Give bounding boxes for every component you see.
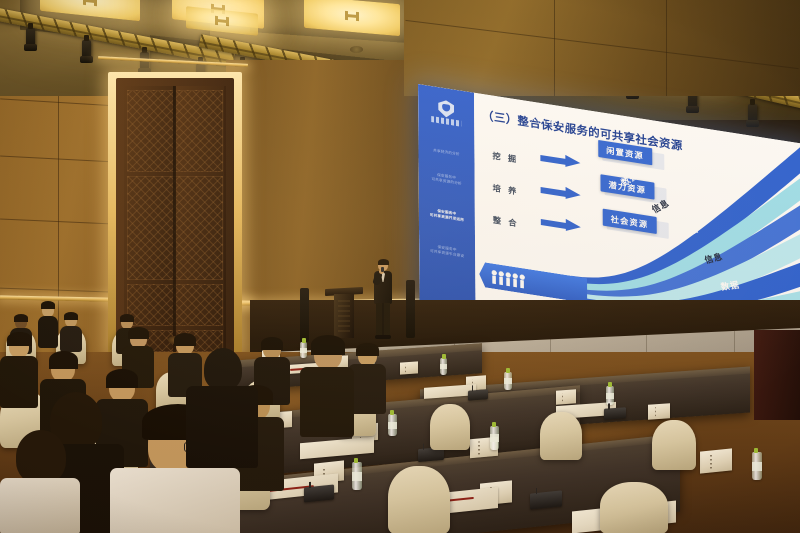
slide-nav-item-2[interactable]: 保安服务中 可共享资源开发运用 xyxy=(424,207,470,225)
audience-chair xyxy=(388,466,450,533)
audience-chair xyxy=(430,404,470,450)
right-wall-panelling xyxy=(404,0,800,96)
name-card xyxy=(648,403,670,420)
water-bottle xyxy=(490,426,499,450)
slide-stream-label-4: 数据 xyxy=(719,279,741,293)
side-curtain xyxy=(754,330,800,420)
slide-row-verb-0: 挖 掘 xyxy=(492,150,518,166)
name-card xyxy=(400,361,418,374)
audience-member-foreground xyxy=(300,340,354,436)
audience-chair xyxy=(540,412,582,460)
audience-chair xyxy=(652,420,696,470)
speaker-stand-right xyxy=(406,280,415,338)
handheld-microphone xyxy=(381,267,384,272)
spotlight xyxy=(26,28,35,47)
slide-logo-icon xyxy=(431,98,461,129)
water-bottle xyxy=(606,386,614,405)
audience-member-foreground xyxy=(186,348,258,466)
name-card xyxy=(700,448,732,473)
water-bottle xyxy=(440,358,447,375)
slide-nav-item-3[interactable]: 保安服务中 可共享资源平台建设 xyxy=(424,243,470,261)
slide-nav-item-0[interactable]: 共享经济的分析 xyxy=(423,147,469,159)
microphone-base xyxy=(604,407,626,420)
water-bottle xyxy=(388,414,397,436)
name-card xyxy=(556,389,576,404)
slide-nav-item-1[interactable]: 保安服务中 可共享资源的分析 xyxy=(424,171,470,189)
slide-row-verb-2: 整 合 xyxy=(493,214,519,230)
people-group-icon xyxy=(491,269,525,288)
audience-member-foreground xyxy=(0,430,80,533)
microphone-base xyxy=(530,490,562,509)
microphone-base xyxy=(468,389,488,400)
slide-row-verb-1: 培 养 xyxy=(493,182,519,198)
conference-hall-photo: 共享经济的分析 保安服务中 可共享资源的分析 保安服务中 可共享资源开发运用 保… xyxy=(0,0,800,533)
water-bottle xyxy=(504,372,512,390)
water-bottle xyxy=(352,462,362,490)
lectern xyxy=(334,294,354,338)
speaker-stand-left xyxy=(300,288,309,342)
microphone-base xyxy=(304,484,334,502)
presenter xyxy=(372,260,394,338)
spotlight xyxy=(748,104,757,123)
water-bottle xyxy=(752,452,762,480)
spotlight xyxy=(82,40,91,59)
audience-chair xyxy=(600,482,668,533)
audience-member-foreground xyxy=(0,336,38,406)
